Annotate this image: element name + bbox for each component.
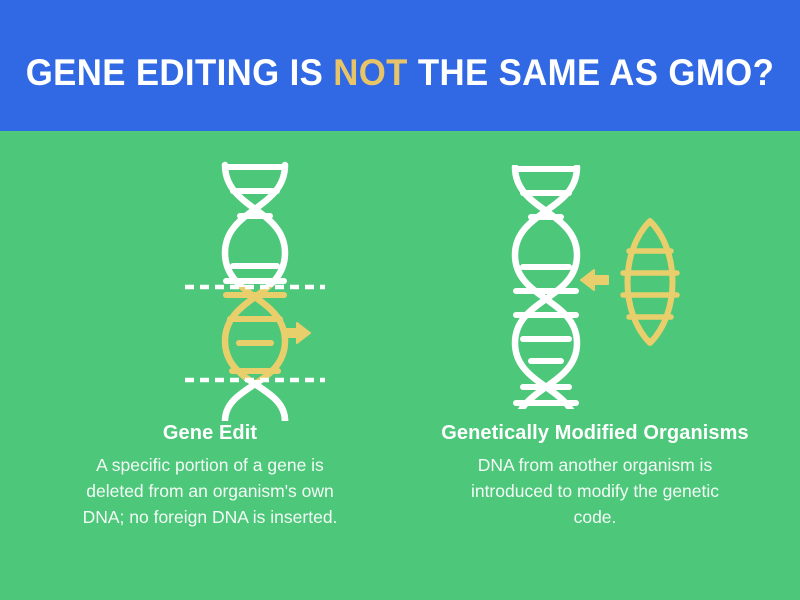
gene-edit-caption: Gene Edit A specific portion of a gene i… xyxy=(20,421,400,530)
gene-edit-description: A specific portion of a gene is deleted … xyxy=(80,452,340,530)
gmo-title: Genetically Modified Organisms xyxy=(405,421,785,446)
page-title: GENE EDITING IS NOT THE SAME AS GMO? xyxy=(24,52,776,94)
foreign-dna-outline xyxy=(628,221,673,343)
page-title-part1: GENE EDITING IS xyxy=(26,52,333,93)
arrow-left-icon xyxy=(581,270,608,290)
panel-gmo: Genetically Modified Organisms DNA from … xyxy=(405,131,785,600)
gene-edit-figure xyxy=(20,131,400,421)
foreign-dna-lens-icon xyxy=(623,221,677,343)
gene-edit-diagram xyxy=(20,131,400,421)
gene-edit-title: Gene Edit xyxy=(20,421,400,446)
gmo-diagram xyxy=(405,131,785,421)
gmo-caption: Genetically Modified Organisms DNA from … xyxy=(405,421,785,530)
gmo-description: DNA from another organism is introduced … xyxy=(464,452,726,530)
header-band: GENE EDITING IS NOT THE SAME AS GMO? xyxy=(0,0,800,131)
panel-gene-edit: Gene Edit A specific portion of a gene i… xyxy=(20,131,400,600)
panels-container: Gene Edit A specific portion of a gene i… xyxy=(0,131,800,600)
page-title-part2: THE SAME AS GMO? xyxy=(408,52,774,93)
gmo-figure xyxy=(405,131,785,421)
infographic-canvas: GENE EDITING IS NOT THE SAME AS GMO? xyxy=(0,0,800,600)
page-title-highlight: NOT xyxy=(333,52,408,93)
gmo-helix-white xyxy=(515,167,577,421)
